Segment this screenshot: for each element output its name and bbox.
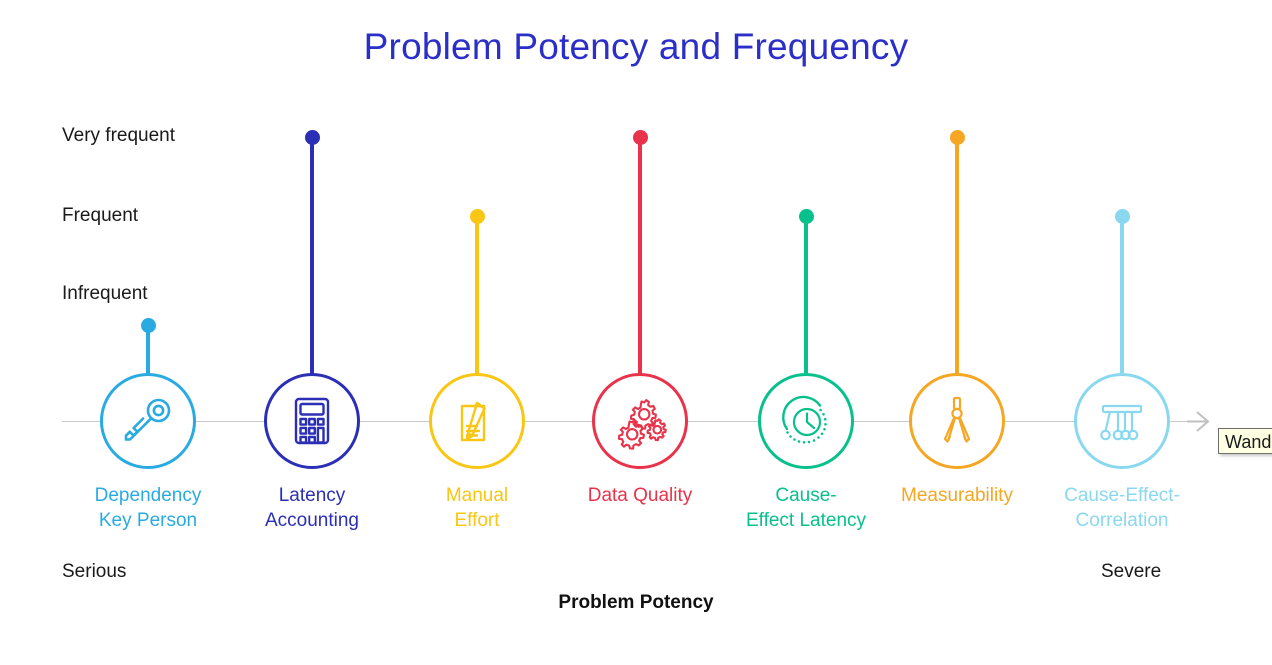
stem-line [310, 136, 314, 376]
gears-icon [611, 392, 669, 450]
pencil-document-icon [448, 392, 506, 450]
stem-line [1120, 215, 1124, 376]
tooltip: Wandle [1218, 428, 1272, 454]
calculator-icon [283, 392, 341, 450]
icon-bubble[interactable] [909, 373, 1005, 469]
stem-line [804, 215, 808, 376]
icon-bubble[interactable] [758, 373, 854, 469]
icon-bubble[interactable] [1074, 373, 1170, 469]
icon-bubble[interactable] [592, 373, 688, 469]
icon-bubble[interactable] [264, 373, 360, 469]
stem-line [475, 215, 479, 376]
stem-line [955, 136, 959, 376]
x-axis-title: Problem Potency [0, 592, 1272, 614]
x-axis-left-label: Serious [62, 561, 126, 583]
clock-icon [774, 389, 838, 453]
data-point-label: Cause-Effect- Correlation [1022, 483, 1222, 533]
x-axis-right-label: Severe [1101, 561, 1161, 583]
stem-line [638, 136, 642, 376]
key-icon [119, 392, 177, 450]
icon-bubble[interactable] [100, 373, 196, 469]
compass-divider-icon [928, 392, 986, 450]
stem-line [146, 324, 150, 376]
icon-bubble[interactable] [429, 373, 525, 469]
newtons-cradle-icon [1092, 391, 1152, 451]
